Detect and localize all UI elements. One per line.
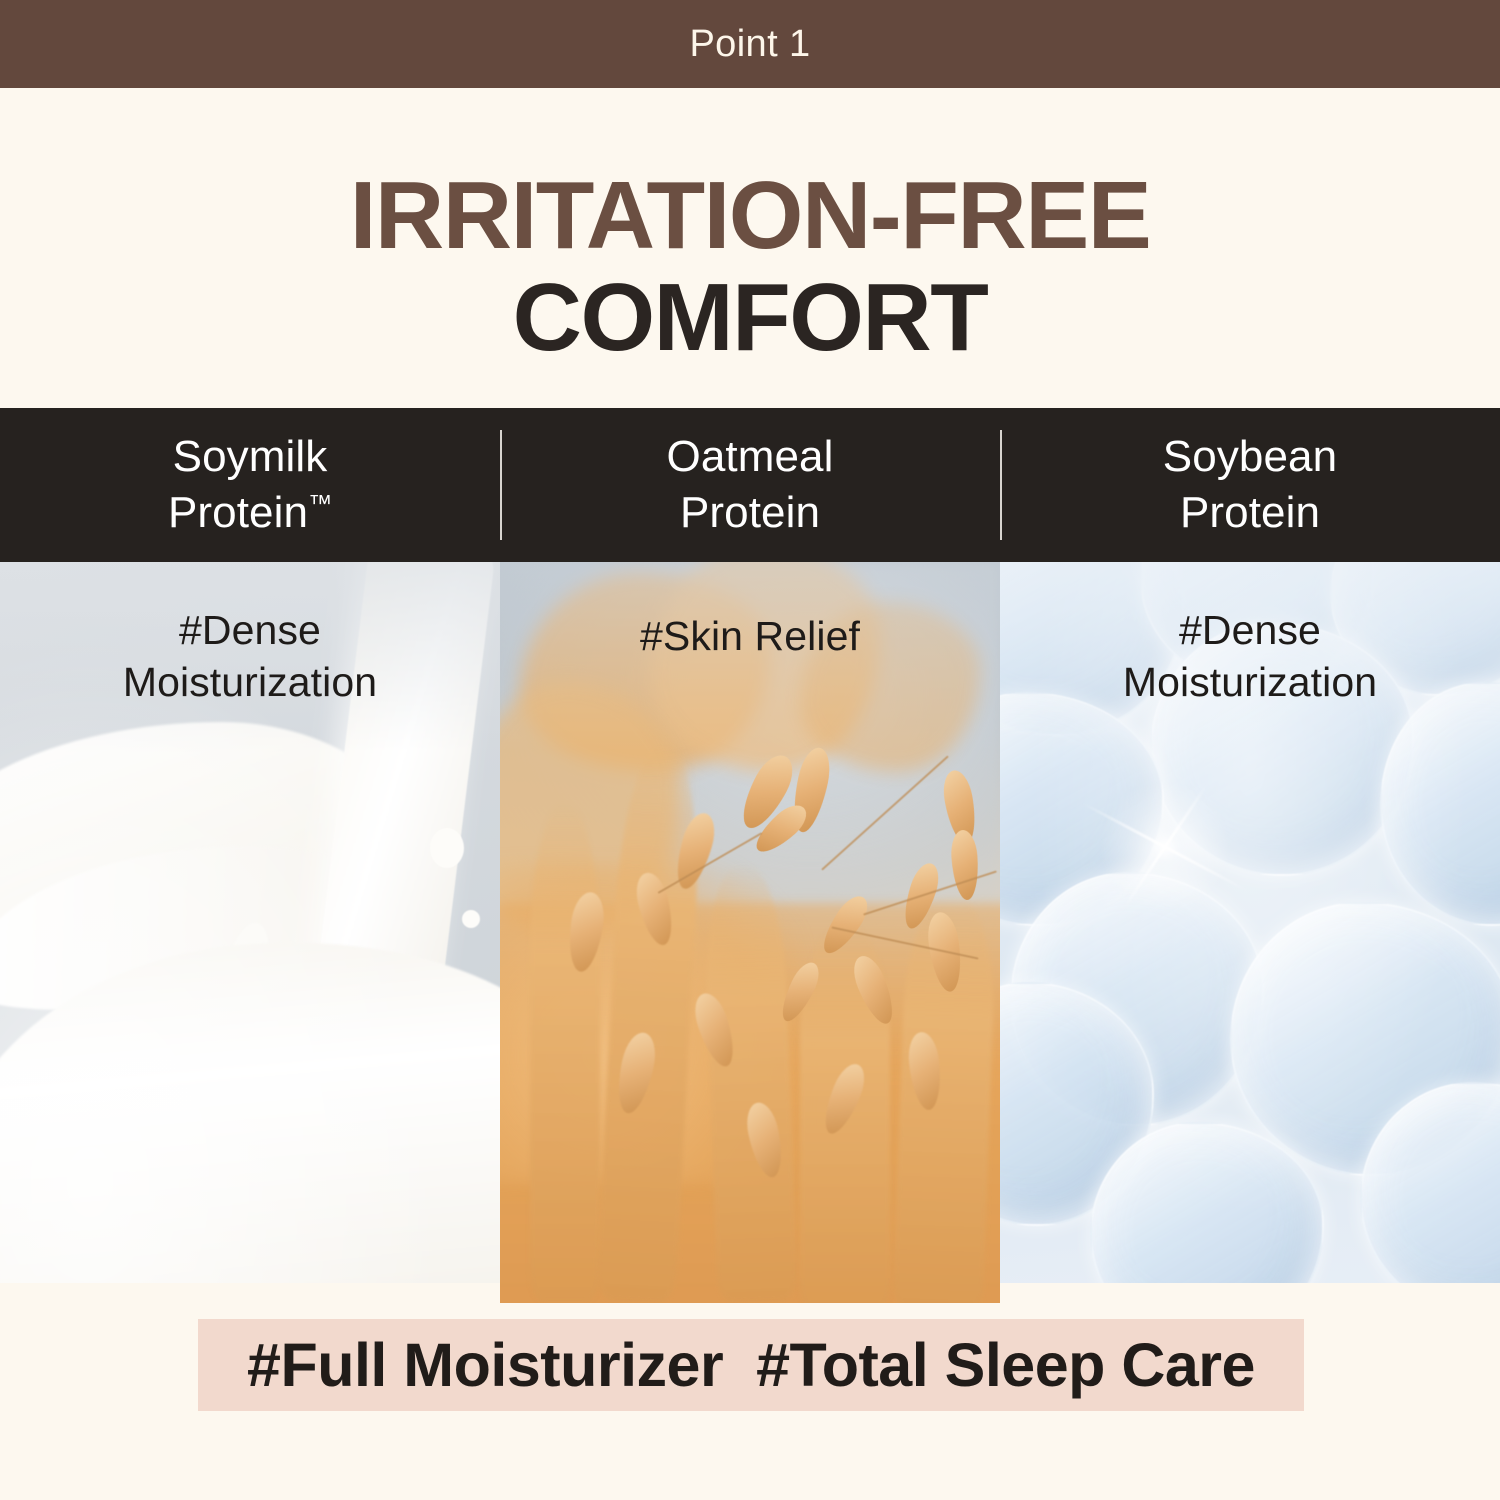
ingredient-name-soymilk: Soymilk Protein™ xyxy=(168,429,332,542)
ingredient-name-line2: Protein xyxy=(1180,488,1320,537)
ingredient-name-line1: Soymilk xyxy=(173,432,328,481)
headline-line-2: COMFORT xyxy=(513,267,988,369)
ingredient-name-line2: Protein xyxy=(680,488,820,537)
trademark-icon: ™ xyxy=(308,490,332,517)
ingredient-image-strip: #Dense Moisturization xyxy=(0,562,1500,1307)
ingredient-name-line1: Soybean xyxy=(1163,432,1337,481)
headline-line-1: IRRITATION-FREE xyxy=(350,165,1151,267)
ingredient-cell-soybean: Soybean Protein xyxy=(1000,408,1500,562)
panel-soymilk: #Dense Moisturization xyxy=(0,562,500,1283)
panel-soybean: #Dense Moisturization xyxy=(1000,562,1500,1283)
panel-caption-soybean: #Dense Moisturization xyxy=(1000,604,1500,709)
ingredient-name-oatmeal: Oatmeal Protein xyxy=(667,429,834,542)
ingredient-cell-soymilk: Soymilk Protein™ xyxy=(0,408,500,562)
top-banner: Point 1 xyxy=(0,0,1500,88)
panel-caption-oatmeal: #Skin Relief xyxy=(500,610,1000,662)
ingredient-name-soybean: Soybean Protein xyxy=(1163,429,1337,542)
panel-oatmeal: #Skin Relief xyxy=(500,562,1000,1303)
hashtag-highlight-bar: #Full Moisturizer #Total Sleep Care xyxy=(198,1319,1304,1411)
point-label: Point 1 xyxy=(689,25,810,63)
product-feature-page: Point 1 IRRITATION-FREE COMFORT Soymilk … xyxy=(0,0,1500,1500)
ingredient-name-line2: Protein xyxy=(168,488,308,537)
headline-block: IRRITATION-FREE COMFORT xyxy=(0,88,1500,408)
footer-area: #Full Moisturizer #Total Sleep Care xyxy=(0,1307,1500,1500)
footer-hashtags: #Full Moisturizer #Total Sleep Care xyxy=(247,1335,1255,1396)
ingredient-cell-oatmeal: Oatmeal Protein xyxy=(500,408,1000,562)
oat-stalk xyxy=(530,802,600,1302)
panel-caption-soymilk: #Dense Moisturization xyxy=(0,604,500,709)
ingredient-header-bar: Soymilk Protein™ Oatmeal Protein Soybean… xyxy=(0,408,1500,562)
ingredient-name-line1: Oatmeal xyxy=(667,432,834,481)
